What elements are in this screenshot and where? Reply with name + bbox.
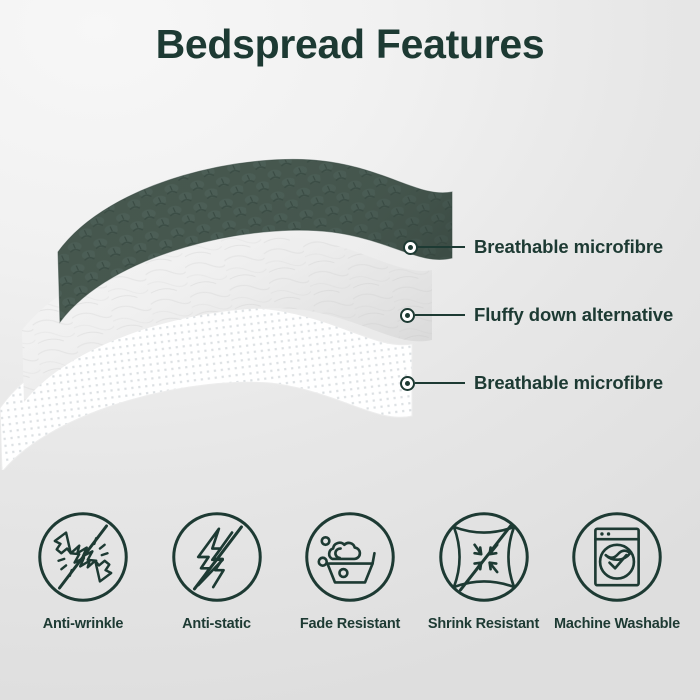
product-feature-infographic: Bedspread Features [0, 0, 700, 700]
callout-marker-dot-icon [400, 308, 415, 323]
callout-breathable-microfibre-top: Breathable microfibre [403, 236, 663, 258]
callout-marker-dot-icon [400, 376, 415, 391]
callout-label: Fluffy down alternative [474, 304, 673, 326]
callout-breathable-microfibre-bottom: Breathable microfibre [400, 372, 663, 394]
feature-fade-resistant: Fade Resistant [289, 510, 411, 660]
feature-anti-wrinkle: Anti-wrinkle [22, 510, 144, 660]
callout-fluffy-down-alternative: Fluffy down alternative [400, 304, 673, 326]
callout-label: Breathable microfibre [474, 236, 663, 258]
feature-anti-static: Anti-static [156, 510, 278, 660]
feature-label: Fade Resistant [300, 616, 400, 632]
feature-label: Shrink Resistant [428, 616, 539, 632]
page-title: Bedspread Features [0, 18, 700, 70]
feature-label: Machine Washable [554, 616, 680, 632]
callout-leader-line [418, 246, 465, 248]
feature-label: Anti-wrinkle [43, 616, 124, 632]
shrinking-square-slashed-icon [437, 510, 531, 604]
callout-leader-line [415, 314, 465, 316]
crumpled-arrows-slashed-icon [36, 510, 130, 604]
feature-shrink-resistant: Shrink Resistant [423, 510, 545, 660]
feature-icon-row: Anti-wrinkle Anti-static [0, 510, 700, 660]
callout-leader-line [415, 382, 465, 384]
callout-marker-dot-icon [403, 240, 418, 255]
feature-label: Anti-static [182, 616, 251, 632]
callout-label: Breathable microfibre [474, 372, 663, 394]
feature-machine-washable: Machine Washable [556, 510, 678, 660]
washing-machine-check-icon [570, 510, 664, 604]
wash-tub-bubbles-icon [303, 510, 397, 604]
lightning-bolt-slashed-icon [170, 510, 264, 604]
